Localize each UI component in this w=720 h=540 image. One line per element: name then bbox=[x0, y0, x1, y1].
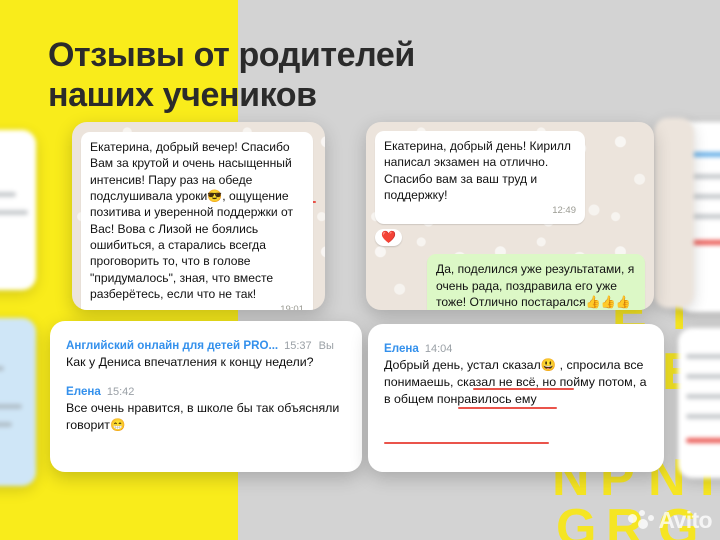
message-timestamp: 19:01 bbox=[280, 304, 304, 310]
message-text: Да, поделился уже результатами, я очень … bbox=[436, 261, 636, 310]
message-reaction-heart[interactable]: ❤️ bbox=[375, 229, 402, 246]
sender-name: Елена bbox=[384, 342, 419, 355]
edge-right-pattern-strip bbox=[654, 118, 694, 308]
review-card-telegram-left[interactable]: Английский онлайн для детей PRO...15:37В… bbox=[50, 321, 362, 472]
page-title: Отзывы от родителей наших учеников bbox=[48, 36, 608, 116]
message-timestamp: 15:42 bbox=[107, 386, 135, 398]
telegram-message[interactable]: Английский онлайн для детей PRO...15:37В… bbox=[66, 338, 346, 371]
marker-underline bbox=[384, 442, 549, 444]
review-card-whatsapp-left[interactable]: Екатерина, добрый вечер! Спасибо Вам за … bbox=[72, 122, 325, 310]
review-card-whatsapp-right[interactable]: Екатерина, добрый день! Кирилл написал э… bbox=[366, 122, 654, 310]
message-header: Английский онлайн для детей PRO...15:37В… bbox=[66, 338, 346, 353]
message-sender-suffix: Вы bbox=[319, 340, 334, 352]
telegram-message[interactable]: Елена14:04 Добрый день, устал сказал😃 , … bbox=[384, 341, 648, 408]
message-bubble-incoming[interactable]: Екатерина, добрый вечер! Спасибо Вам за … bbox=[81, 132, 313, 310]
message-timestamp: 15:37 bbox=[284, 340, 312, 352]
message-text: Как у Дениса впечатления к концу недели? bbox=[66, 354, 346, 371]
message-bubble-incoming[interactable]: Екатерина, добрый день! Кирилл написал э… bbox=[375, 131, 585, 224]
telegram-message[interactable]: Елена15:42 Все очень нравится, в школе б… bbox=[66, 384, 346, 434]
poster-canvas: EILENPNIGRG Отзывы от родителей наших уч… bbox=[0, 0, 720, 540]
message-bubble-outgoing[interactable]: Да, поделился уже результатами, я очень … bbox=[427, 254, 645, 310]
review-card-telegram-right[interactable]: Елена14:04 Добрый день, устал сказал😃 , … bbox=[368, 324, 664, 472]
sender-name: Английский онлайн для детей PRO... bbox=[66, 339, 278, 352]
message-text: Добрый день, устал сказал😃 , спросила вс… bbox=[384, 357, 648, 408]
message-header: Елена14:04 bbox=[384, 341, 648, 356]
edge-card-left-top bbox=[0, 130, 36, 290]
message-timestamp: 14:04 bbox=[425, 343, 453, 355]
message-header: Елена15:42 bbox=[66, 384, 346, 399]
sender-name: Елена bbox=[66, 385, 101, 398]
message-timestamp: 12:49 bbox=[552, 205, 576, 218]
message-text: Екатерина, добрый день! Кирилл написал э… bbox=[384, 138, 576, 203]
edge-card-left-bottom bbox=[0, 318, 36, 486]
message-text: Екатерина, добрый вечер! Спасибо Вам за … bbox=[90, 139, 304, 302]
edge-card-right-bottom bbox=[678, 328, 720, 478]
message-text: Все очень нравится, в школе бы так объяс… bbox=[66, 400, 346, 434]
